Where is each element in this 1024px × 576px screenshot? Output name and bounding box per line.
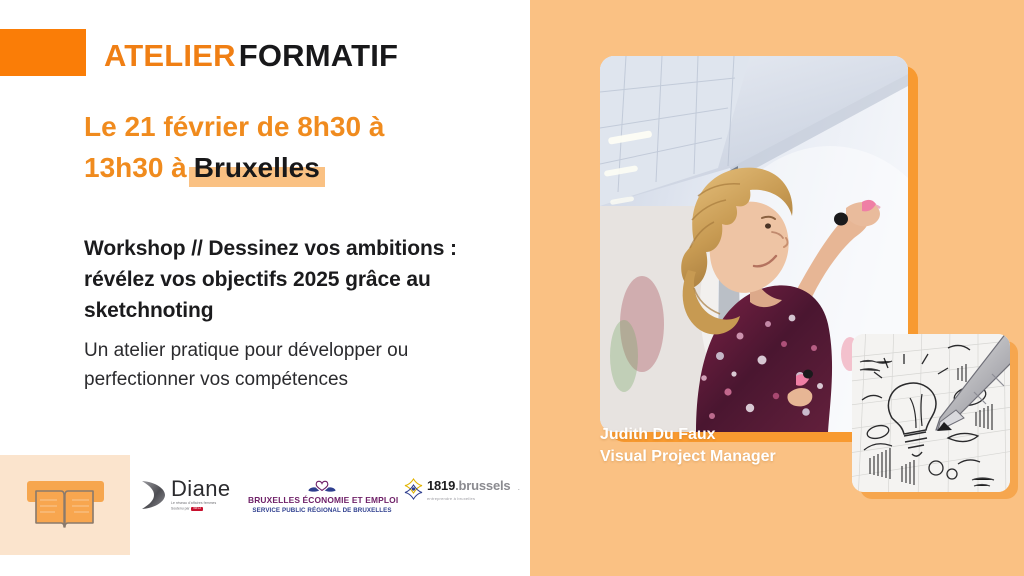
logo-diane-sub1: Le réseau d'affaires femmes [171,502,230,505]
logo-1819-domain: .brussels [455,478,510,493]
left-content-panel: ATELIERFORMATIF Le 21 février de 8h30 à … [0,0,530,576]
logo-diane-sub2: Soutenu par [171,506,189,510]
kicker-word-atelier: ATELIER [104,38,236,73]
right-visual-panel: Judith Du Faux Visual Project Manager [530,0,1024,576]
logo-1819-sub: entreprendre à bruxelles [427,496,510,501]
logo-diane-sub2-row: Soutenu parBECI [171,507,230,511]
event-date-part1: Le 21 février de 8h30 à [84,111,384,142]
logo-1819-number: 1819 [427,478,455,493]
event-date-line: Le 21 février de 8h30 à 13h30 àBruxelles [84,106,484,188]
speaker-role: Visual Project Manager [600,446,776,468]
workshop-headline: Workshop // Dessinez vos ambitions : rév… [84,233,524,326]
logo-1819-brussels: 1819.brussels entreprendre à bruxelles [404,478,520,501]
poster-canvas: ATELIERFORMATIF Le 21 février de 8h30 à … [0,0,1024,576]
sketchnote-thumbnail [852,334,1010,492]
iris-heart-icon [307,478,337,494]
sketchnote-illustration [852,334,1010,492]
workshop-subcopy: Un atelier pratique pour développer ou p… [84,336,504,394]
open-book-icon [33,486,96,530]
event-date-part2: 13h30 à [84,152,187,183]
kicker-word-formatif-highlight: FORMATIF [236,38,401,73]
book-badge [0,455,130,555]
logo-diane-chip: BECI [191,507,202,511]
cloud-icon [518,485,520,494]
iris-star-icon [404,478,423,500]
logo-diane: Diane Le réseau d'affaires femmes Souten… [140,478,238,511]
speaker-name: Judith Du Faux [600,424,776,446]
event-city: Bruxelles [194,152,320,183]
chevron-mark-icon [140,480,166,510]
logo-bee-line2: SERVICE PUBLIC RÉGIONAL DE BRUXELLES [248,507,396,514]
logo-bruxelles-economie-emploi: BRUXELLES ÉCONOMIE ET EMPLOI SERVICE PUB… [248,478,396,514]
logo-1819-title: 1819.brussels [427,478,510,493]
kicker-title: ATELIERFORMATIF [104,36,401,76]
logo-diane-name: Diane [171,478,230,500]
speaker-caption: Judith Du Faux Visual Project Manager [600,424,776,468]
kicker-word-formatif: FORMATIF [239,38,398,73]
event-city-highlight: Bruxelles [189,152,325,183]
partner-logos-row: Diane Le réseau d'affaires femmes Souten… [140,478,520,522]
logo-bee-line1: BRUXELLES ÉCONOMIE ET EMPLOI [248,495,396,505]
orange-corner-block [0,29,86,76]
